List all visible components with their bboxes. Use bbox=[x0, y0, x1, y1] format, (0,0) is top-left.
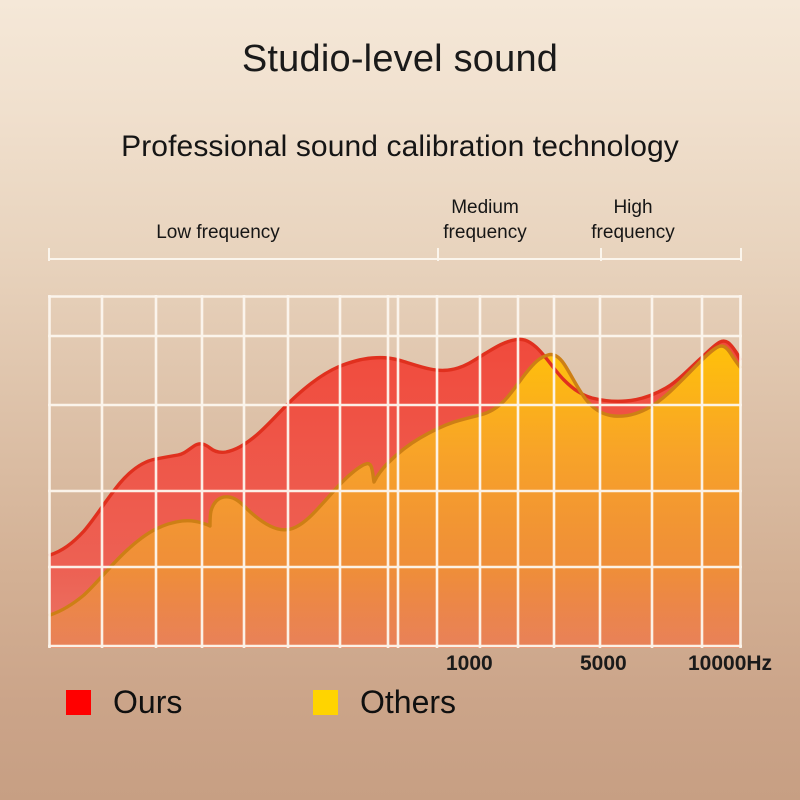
frequency-response-chart bbox=[48, 295, 742, 648]
page-subtitle: Professional sound calibration technolog… bbox=[0, 130, 800, 164]
x-tick-1000: 1000 bbox=[446, 652, 493, 676]
legend-swatch-others-icon bbox=[313, 690, 338, 715]
poster-root: Studio-level sound Professional sound ca… bbox=[0, 0, 800, 800]
chart-legend: Ours Others bbox=[48, 686, 548, 730]
frequency-band-axis: Low frequency Medium frequency High freq… bbox=[48, 190, 742, 268]
legend-item-ours[interactable]: Ours bbox=[66, 686, 182, 718]
band-divider-line bbox=[48, 258, 742, 260]
page-title: Studio-level sound bbox=[0, 38, 800, 81]
legend-label-others: Others bbox=[360, 686, 456, 718]
legend-label-ours: Ours bbox=[113, 686, 182, 718]
chart-areas bbox=[50, 339, 740, 648]
band-tick-start bbox=[48, 248, 50, 261]
band-tick-medium-high bbox=[600, 248, 602, 261]
x-tick-5000: 5000 bbox=[580, 652, 627, 676]
band-label-high: High frequency bbox=[573, 195, 693, 245]
x-axis-labels: 1000 5000 10000Hz bbox=[48, 652, 742, 682]
band-tick-end bbox=[740, 248, 742, 261]
x-tick-10000: 10000Hz bbox=[688, 652, 772, 676]
legend-item-others[interactable]: Others bbox=[313, 686, 456, 718]
band-label-medium: Medium frequency bbox=[420, 195, 550, 245]
legend-swatch-ours-icon bbox=[66, 690, 91, 715]
band-label-low: Low frequency bbox=[108, 220, 328, 245]
band-tick-low-medium bbox=[437, 248, 439, 261]
